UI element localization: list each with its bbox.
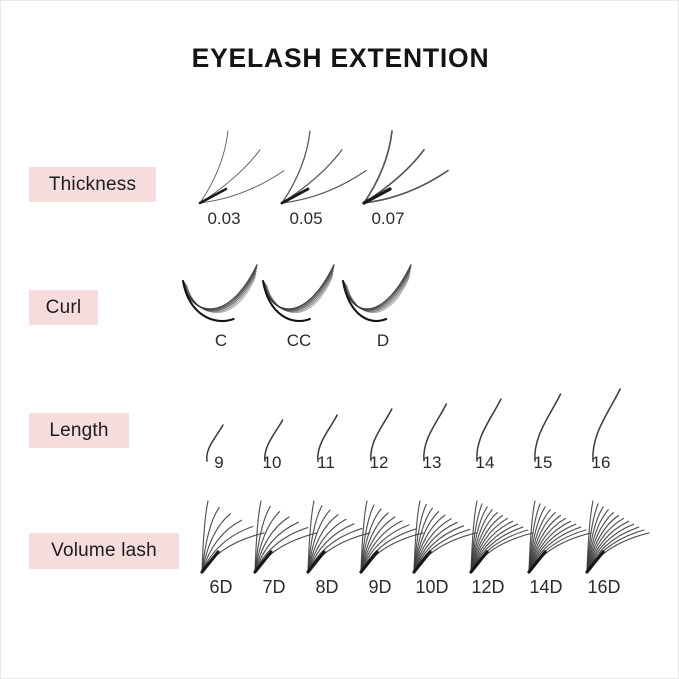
volume-lash-item-7-caption: 16D	[569, 577, 639, 598]
infographic-canvas: EYELASH EXTENTION Thickness Curl Length …	[0, 0, 679, 679]
row-volume-lash: 6D7D8D9D10D12D14D16D	[1, 1, 679, 679]
volume-lash-item-7-icon	[579, 499, 651, 575]
